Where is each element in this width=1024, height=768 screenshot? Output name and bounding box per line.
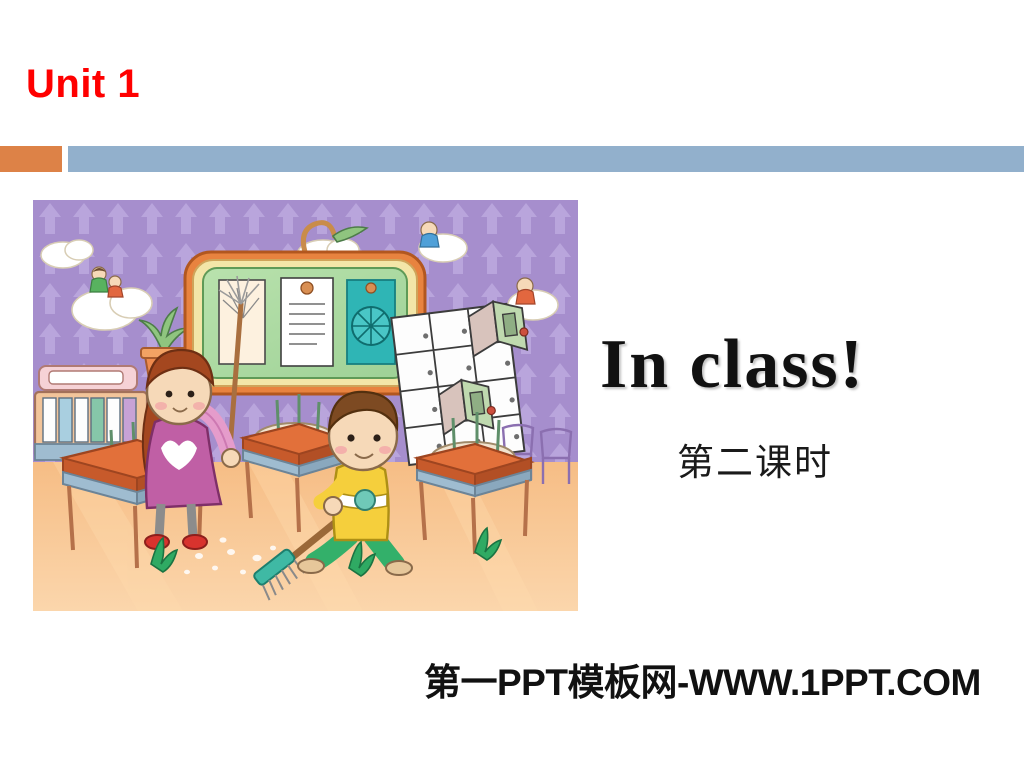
classroom-illustration-graphic [33, 200, 578, 611]
page-subtitle: 第二课时 [600, 443, 910, 484]
watermark-text: 第一PPT模板网-WWW.1PPT.COM [424, 663, 981, 704]
slide-canvas: Unit 1 [0, 0, 1024, 768]
header-divider [0, 146, 1024, 172]
page-title: In class! [600, 328, 940, 402]
divider-orange-segment [0, 146, 62, 172]
classroom-illustration [33, 200, 578, 611]
divider-blue-segment [68, 146, 1024, 172]
unit-label: Unit 1 [26, 64, 140, 104]
